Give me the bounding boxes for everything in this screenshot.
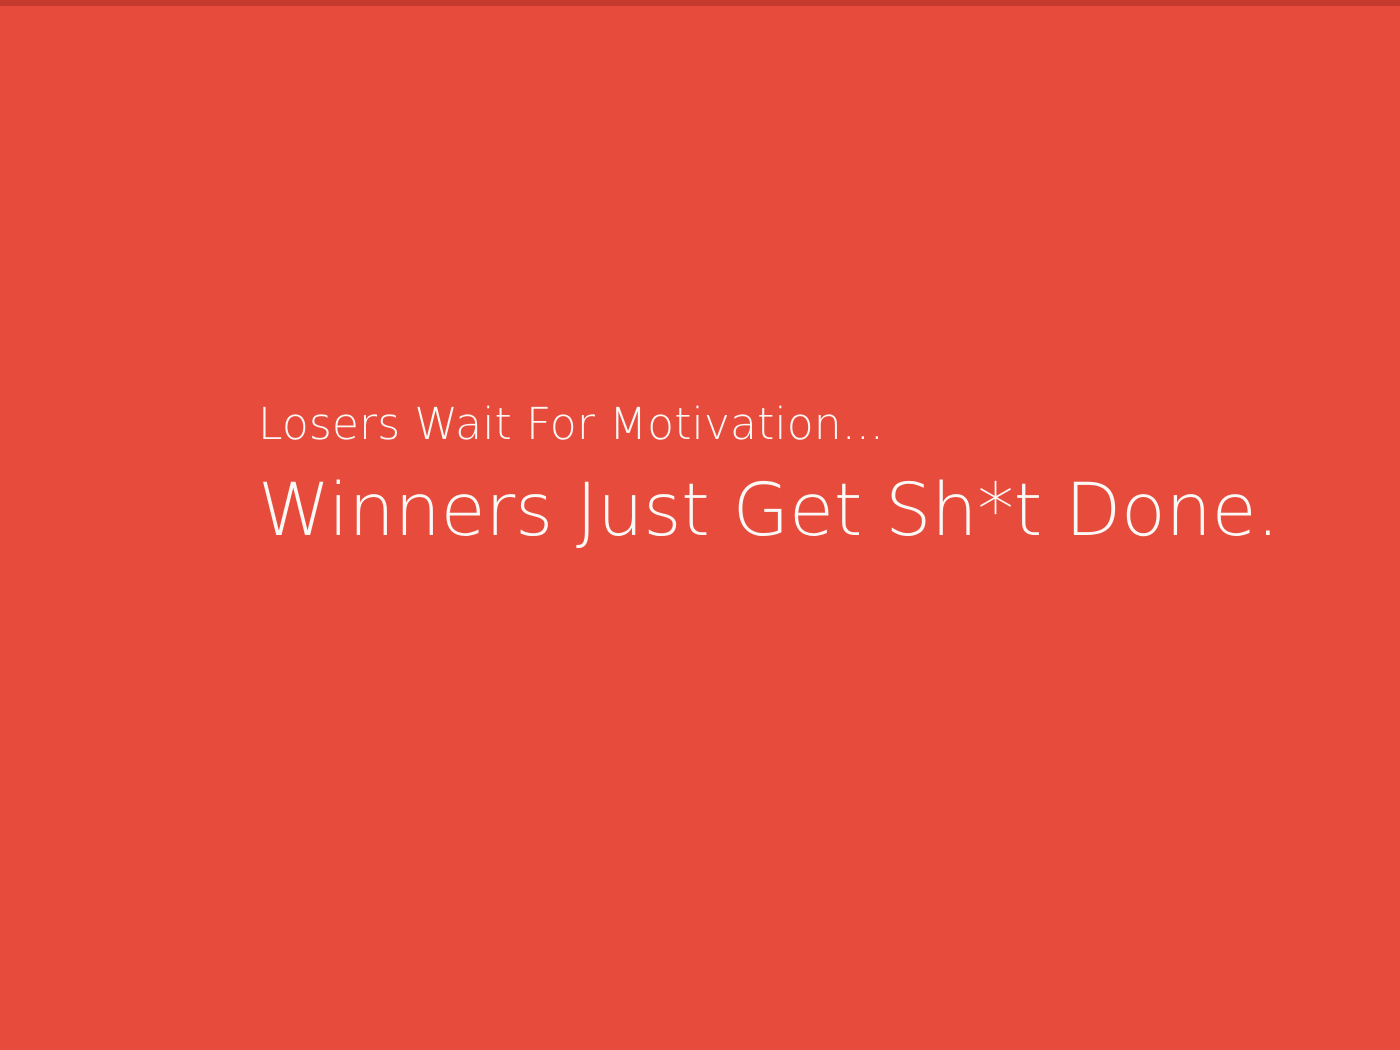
quote-subtitle: Losers Wait For Motivation...: [258, 398, 1348, 452]
quote-headline: Winners Just Get Sh*t Done.: [258, 468, 1348, 554]
quote-text-block: Losers Wait For Motivation... Winners Ju…: [258, 398, 1348, 554]
quote-poster: Losers Wait For Motivation... Winners Ju…: [0, 0, 1400, 1050]
top-accent-bar: [0, 0, 1400, 6]
